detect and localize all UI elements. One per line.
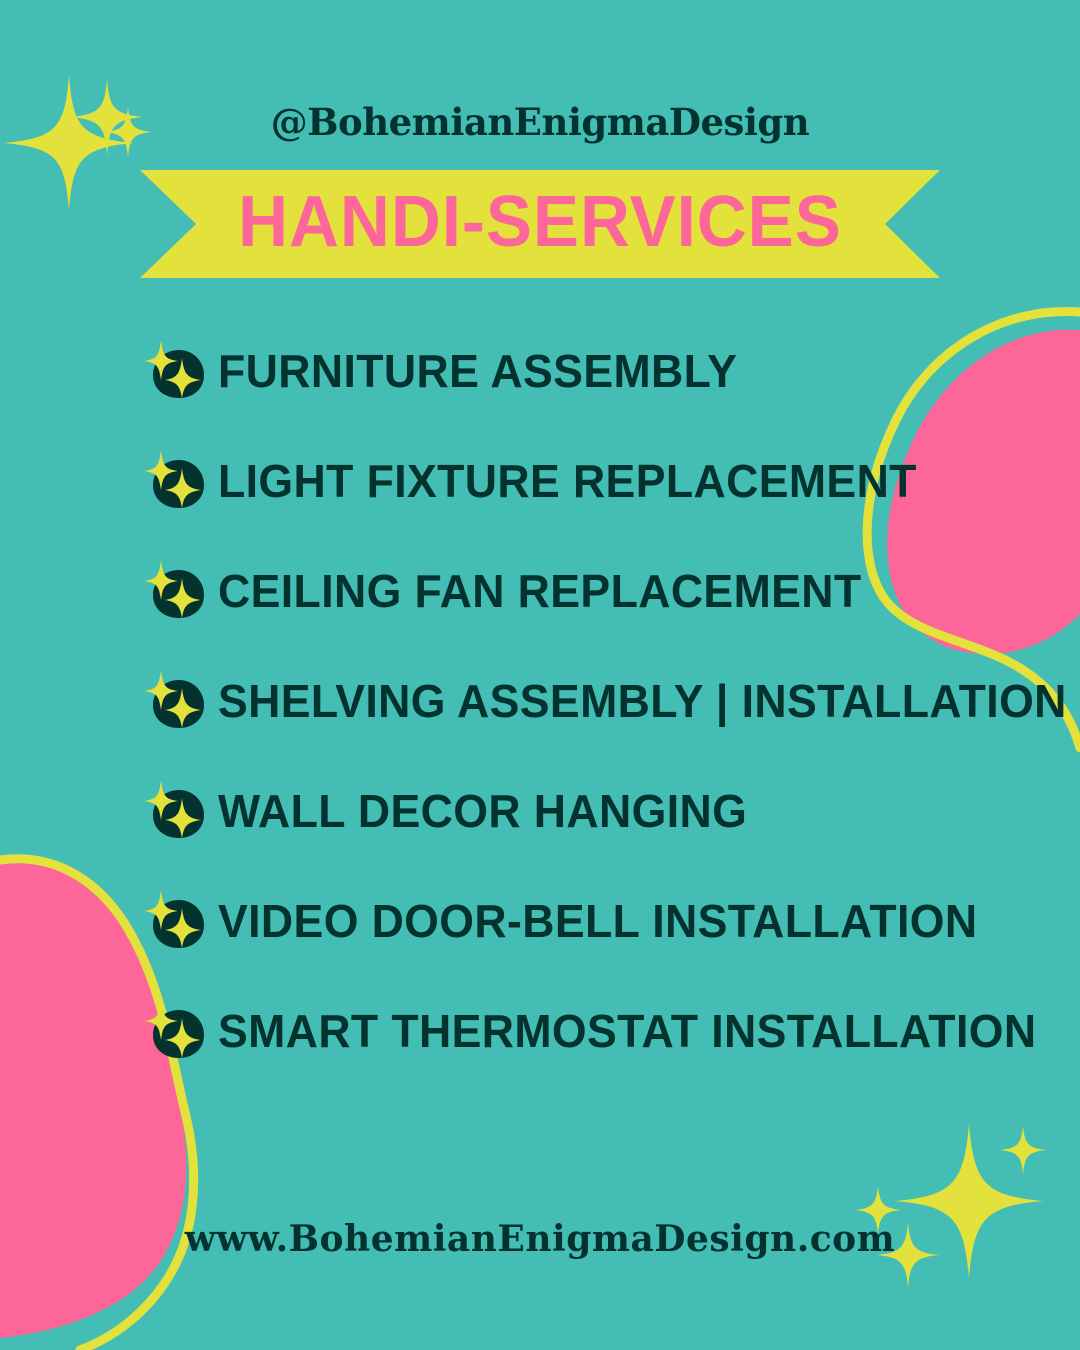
poster-canvas: @BohemianEnigmaDesign HANDI-SERVICES FUR… [0,0,1080,1350]
list-item: CEILING FAN REPLACEMENT [146,536,1046,646]
sparkle-blob-icon [146,780,208,842]
list-item: SMART THERMOSTAT INSTALLATION [146,976,1046,1086]
list-item-label: SMART THERMOSTAT INSTALLATION [218,1004,1036,1058]
list-item: VIDEO DOOR-BELL INSTALLATION [146,866,1046,976]
sparkle-blob-icon [146,340,208,402]
title-banner: HANDI-SERVICES [140,170,940,278]
brand-handle: @BohemianEnigmaDesign [0,100,1080,144]
website-url: www.BohemianEnigmaDesign.com [0,1218,1080,1260]
list-item-label: WALL DECOR HANGING [218,784,747,838]
list-item: LIGHT FIXTURE REPLACEMENT [146,426,1046,536]
sparkle-blob-icon [146,670,208,732]
list-item-label: CEILING FAN REPLACEMENT [218,564,862,618]
list-item-label: SHELVING ASSEMBLY | INSTALLATION [218,674,1067,728]
sparkle-blob-icon [146,560,208,622]
list-item-label: LIGHT FIXTURE REPLACEMENT [218,454,917,508]
sparkle-blob-icon [146,1000,208,1062]
sparkle-tiny-icon [1000,1126,1046,1174]
list-item: SHELVING ASSEMBLY | INSTALLATION [146,646,1046,756]
sparkle-blob-icon [146,890,208,952]
list-item: WALL DECOR HANGING [146,756,1046,866]
list-item: FURNITURE ASSEMBLY [146,316,1046,426]
list-item-label: VIDEO DOOR-BELL INSTALLATION [218,894,977,948]
page-title: HANDI-SERVICES [156,170,924,278]
list-item-label: FURNITURE ASSEMBLY [218,344,737,398]
sparkle-blob-icon [146,450,208,512]
services-list: FURNITURE ASSEMBLY LIGHT FIXTURE REPLACE… [146,316,1046,1086]
bottom-right-sparkle-cluster [855,1124,1046,1288]
